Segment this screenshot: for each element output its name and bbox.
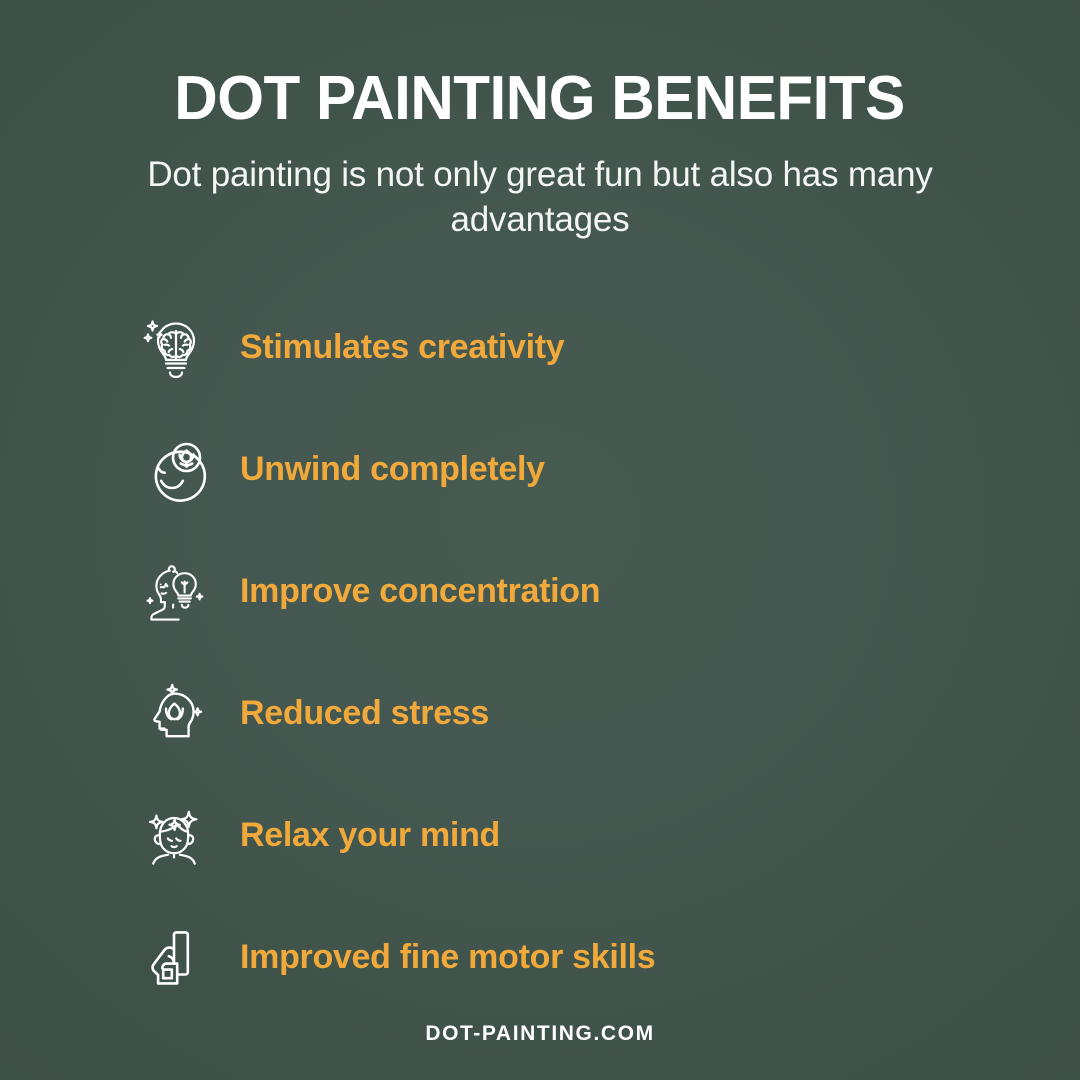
list-item-label: Stimulates creativity bbox=[240, 328, 564, 367]
list-item-label: Unwind completely bbox=[240, 450, 545, 489]
hand-holding-object-icon bbox=[138, 922, 210, 994]
lightbulb-brain-icon bbox=[138, 312, 210, 384]
list-item-label: Improved fine motor skills bbox=[240, 938, 655, 977]
list-item-label: Relax your mind bbox=[240, 816, 500, 855]
poster-canvas: DOT PAINTING BENEFITS Dot painting is no… bbox=[0, 0, 1080, 1080]
list-item-label: Improve concentration bbox=[240, 572, 600, 611]
list-item: Reduced stress bbox=[0, 653, 1080, 775]
head-lotus-icon bbox=[138, 678, 210, 750]
list-item: Improved fine motor skills bbox=[0, 897, 1080, 1019]
list-item: Improve concentration bbox=[0, 531, 1080, 653]
relaxed-face-stars-icon bbox=[138, 800, 210, 872]
page-subtitle: Dot painting is not only great fun but a… bbox=[145, 131, 935, 243]
benefits-list: Stimulates creativity Unwind completely bbox=[0, 287, 1080, 1019]
list-item: Relax your mind bbox=[0, 775, 1080, 897]
head-profile-lightbulb-icon bbox=[138, 556, 210, 628]
page-title: DOT PAINTING BENEFITS bbox=[175, 0, 905, 131]
footer-website: DOT-PAINTING.COM bbox=[0, 1022, 1080, 1046]
list-item: Unwind completely bbox=[0, 409, 1080, 531]
smiling-face-flower-icon bbox=[138, 434, 210, 506]
list-item: Stimulates creativity bbox=[0, 287, 1080, 409]
list-item-label: Reduced stress bbox=[240, 694, 489, 733]
